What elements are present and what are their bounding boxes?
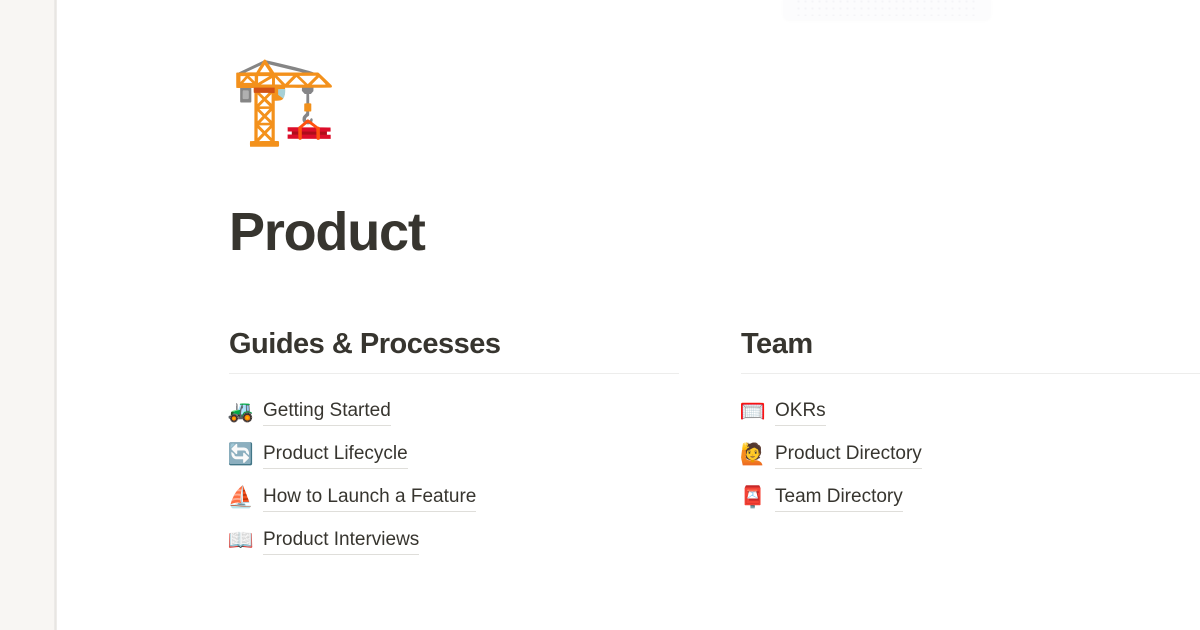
sailboat-icon: ⛵ xyxy=(229,487,253,508)
person-raising-hand-icon: 🙋 xyxy=(741,444,765,465)
link-how-to-launch-a-feature[interactable]: How to Launch a Feature xyxy=(263,484,476,512)
counterclockwise-arrows-icon: 🔄 xyxy=(229,444,253,465)
link-product-lifecycle[interactable]: Product Lifecycle xyxy=(263,441,408,469)
list-item[interactable]: 🥅 OKRs xyxy=(741,390,1200,433)
page-canvas[interactable]: 🏗️ Product Guides & Processes 🚜 Getting … xyxy=(57,0,1200,630)
link-product-interviews[interactable]: Product Interviews xyxy=(263,527,419,555)
column-guides-and-processes: Guides & Processes 🚜 Getting Started 🔄 P… xyxy=(229,326,679,562)
section-divider xyxy=(741,373,1200,374)
list-item[interactable]: ⛵ How to Launch a Feature xyxy=(229,476,679,519)
workspace-window: 🏗️ Product Guides & Processes 🚜 Getting … xyxy=(0,0,1200,630)
postbox-icon: 📮 xyxy=(741,487,765,508)
tractor-icon: 🚜 xyxy=(229,401,253,422)
column-team: Team 🥅 OKRs 🙋 Product Directory 📮 xyxy=(741,326,1200,562)
column-list: Guides & Processes 🚜 Getting Started 🔄 P… xyxy=(229,326,1200,562)
link-product-directory[interactable]: Product Directory xyxy=(775,441,922,469)
list-item[interactable]: 🔄 Product Lifecycle xyxy=(229,433,679,476)
section-divider xyxy=(229,373,679,374)
link-getting-started[interactable]: Getting Started xyxy=(263,398,391,426)
page-title[interactable]: Product xyxy=(229,200,425,264)
page-content: 🏗️ Product Guides & Processes 🚜 Getting … xyxy=(57,0,1200,630)
link-list-team: 🥅 OKRs 🙋 Product Directory 📮 Team Direct… xyxy=(741,390,1200,519)
section-heading-team[interactable]: Team xyxy=(741,326,1200,362)
link-okrs[interactable]: OKRs xyxy=(775,398,826,426)
sidebar[interactable] xyxy=(0,0,57,630)
list-item[interactable]: 🙋 Product Directory xyxy=(741,433,1200,476)
list-item[interactable]: 🚜 Getting Started xyxy=(229,390,679,433)
link-list-guides-and-processes: 🚜 Getting Started 🔄 Product Lifecycle ⛵ … xyxy=(229,390,679,562)
goal-net-icon: 🥅 xyxy=(741,401,765,422)
link-team-directory[interactable]: Team Directory xyxy=(775,484,903,512)
list-item[interactable]: 📮 Team Directory xyxy=(741,476,1200,519)
open-book-icon: 📖 xyxy=(229,530,253,551)
section-heading-guides-and-processes[interactable]: Guides & Processes xyxy=(229,326,679,362)
building-construction-icon[interactable]: 🏗️ xyxy=(230,40,350,160)
list-item[interactable]: 📖 Product Interviews xyxy=(229,519,679,562)
